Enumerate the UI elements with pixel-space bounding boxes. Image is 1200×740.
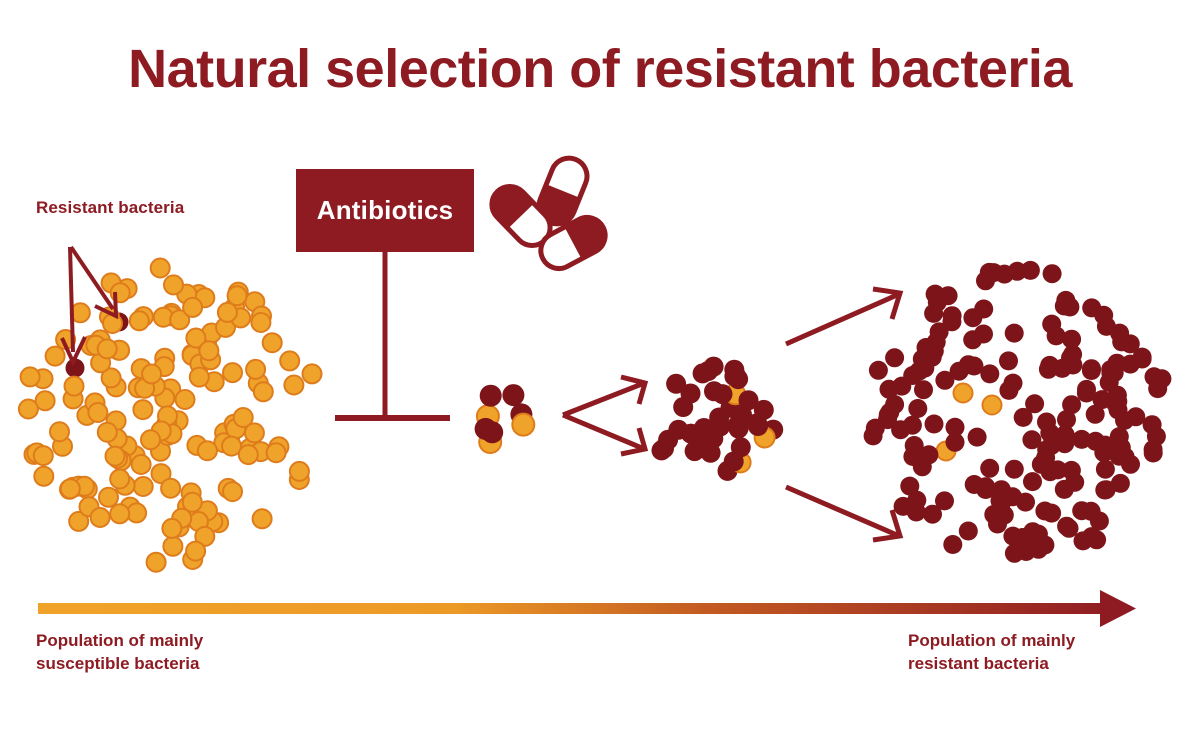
bacterium xyxy=(103,314,122,333)
bacterium xyxy=(190,368,209,387)
bacterium xyxy=(110,504,129,523)
timeline-arrow xyxy=(38,590,1136,627)
bacterium xyxy=(1133,348,1152,367)
bacteria-colonies xyxy=(19,259,1172,572)
bacterium xyxy=(1126,407,1145,426)
bacterium xyxy=(1077,380,1096,399)
bacterium xyxy=(61,479,80,498)
bacterium xyxy=(223,363,242,382)
bacterium xyxy=(925,342,944,361)
bacterium xyxy=(923,505,942,524)
bacterium xyxy=(1072,430,1091,449)
bacterium xyxy=(199,341,218,360)
bacterium xyxy=(980,263,999,282)
bacterium xyxy=(965,475,984,494)
bacterium xyxy=(133,400,152,419)
bacterium xyxy=(908,399,927,418)
bacterium xyxy=(668,420,688,440)
bacterium xyxy=(693,363,713,383)
pill-capsule-icon-group xyxy=(484,153,611,275)
bacterium xyxy=(959,355,978,374)
bacterium xyxy=(914,380,933,399)
bacterium xyxy=(234,408,253,427)
bacterium xyxy=(1042,315,1061,334)
bacterium xyxy=(892,377,911,396)
bacterium xyxy=(263,333,282,352)
bacterium xyxy=(223,482,242,501)
bacterium xyxy=(754,400,774,420)
bacterium xyxy=(130,311,149,330)
antibiotics-barrier-icon xyxy=(335,252,450,418)
bacterium xyxy=(141,430,160,449)
bacterium xyxy=(928,293,947,312)
bacterium xyxy=(1108,386,1127,405)
bacterium xyxy=(132,455,151,474)
bacterium xyxy=(1029,525,1048,544)
bacterium xyxy=(728,369,748,389)
bacterium xyxy=(968,428,987,447)
bacterium xyxy=(1082,359,1101,378)
bacterium xyxy=(91,508,110,527)
bacterium xyxy=(983,396,1002,415)
colony-final-population xyxy=(864,261,1172,563)
bacterium xyxy=(1082,298,1101,317)
bacterium xyxy=(1087,530,1106,549)
bacterium xyxy=(280,351,299,370)
bacterium xyxy=(1014,408,1033,427)
bacterium xyxy=(183,298,202,317)
bacterium xyxy=(1017,542,1036,561)
bacterium xyxy=(701,443,721,463)
colony-initial-population xyxy=(19,259,322,572)
bacterium xyxy=(284,376,303,395)
bacterium xyxy=(1111,474,1130,493)
bacterium xyxy=(228,286,247,305)
bacterium xyxy=(106,447,125,466)
bacterium xyxy=(710,417,730,437)
colony-regrowth-mixed xyxy=(652,357,784,481)
bacterium xyxy=(134,477,153,496)
bacterium xyxy=(290,462,309,481)
bacterium xyxy=(164,275,183,294)
bacterium xyxy=(162,519,181,538)
bacterium xyxy=(183,493,202,512)
bacterium xyxy=(1005,460,1024,479)
bacterium xyxy=(1056,291,1075,310)
bacterium xyxy=(186,542,205,561)
bacterium xyxy=(512,414,534,436)
bacterium xyxy=(1057,517,1076,536)
bacterium xyxy=(864,426,883,445)
bacterium xyxy=(925,415,944,434)
bacterium xyxy=(1086,405,1105,424)
bacterium xyxy=(253,509,272,528)
bacterium xyxy=(19,400,38,419)
bacterium xyxy=(254,382,273,401)
bacterium xyxy=(98,339,117,358)
bacterium xyxy=(239,445,258,464)
bacterium xyxy=(903,416,922,435)
colony-after-antibiotics-survivors xyxy=(475,384,535,453)
bacterium xyxy=(303,364,322,383)
bacterium xyxy=(34,446,53,465)
bacterium xyxy=(88,403,107,422)
bacterium xyxy=(161,479,180,498)
bacterium xyxy=(992,494,1011,513)
bacterium xyxy=(1039,360,1058,379)
bacterium xyxy=(251,313,270,332)
bacterium xyxy=(946,418,965,437)
bacterium xyxy=(1062,330,1081,349)
bacterium xyxy=(163,537,182,556)
bacterium xyxy=(903,447,922,466)
bacterium xyxy=(1056,425,1075,444)
bacterium xyxy=(980,459,999,478)
bacterium xyxy=(99,488,118,507)
bacterium xyxy=(98,423,117,442)
bacterium xyxy=(1041,462,1060,481)
bacterium xyxy=(943,306,962,325)
bacterium xyxy=(142,365,161,384)
bacterium xyxy=(246,360,265,379)
bacterium xyxy=(1061,348,1080,367)
bacterium xyxy=(724,452,744,472)
bacterium xyxy=(869,361,888,380)
bacterium xyxy=(1112,332,1131,351)
bacterium xyxy=(1096,460,1115,479)
bacterium xyxy=(974,325,993,344)
bacterium xyxy=(65,377,84,396)
bacterium xyxy=(198,441,217,460)
bacterium xyxy=(147,553,166,572)
diagram-graphics xyxy=(0,0,1200,740)
bacterium xyxy=(999,351,1018,370)
bacterium xyxy=(1023,472,1042,491)
bacterium xyxy=(885,395,904,414)
bacterium xyxy=(959,522,978,541)
bacterium xyxy=(1022,430,1041,449)
bacterium xyxy=(1147,427,1166,446)
bacterium xyxy=(963,308,982,327)
bacterium xyxy=(1035,502,1054,521)
bacterium xyxy=(50,422,69,441)
bacterium xyxy=(1004,374,1023,393)
bacterium xyxy=(673,397,693,417)
bacterium xyxy=(713,384,733,404)
bacterium xyxy=(885,348,904,367)
split-arrows xyxy=(563,377,645,454)
bacterium xyxy=(1065,473,1084,492)
bacterium xyxy=(218,303,237,322)
bacterium xyxy=(502,384,524,406)
bacterium xyxy=(943,535,962,554)
bacterium xyxy=(1116,447,1135,466)
bacterium xyxy=(1144,444,1163,463)
bacterium xyxy=(110,470,129,489)
bacterium xyxy=(1082,502,1101,521)
bacterium xyxy=(46,347,65,366)
bacterium xyxy=(1005,324,1024,343)
infographic-canvas: Natural selection of resistant bacteria … xyxy=(0,0,1200,740)
bacterium xyxy=(21,367,40,386)
bacterium xyxy=(34,467,53,486)
bacterium xyxy=(267,443,286,462)
bacterium xyxy=(481,421,503,443)
bacterium xyxy=(176,390,195,409)
bacterium xyxy=(1043,264,1062,283)
bacterium xyxy=(151,259,170,278)
bacterium xyxy=(954,384,973,403)
bacterium xyxy=(1148,379,1167,398)
bacterium xyxy=(1021,261,1040,280)
bacterium xyxy=(894,497,913,516)
bacterium xyxy=(480,385,502,407)
